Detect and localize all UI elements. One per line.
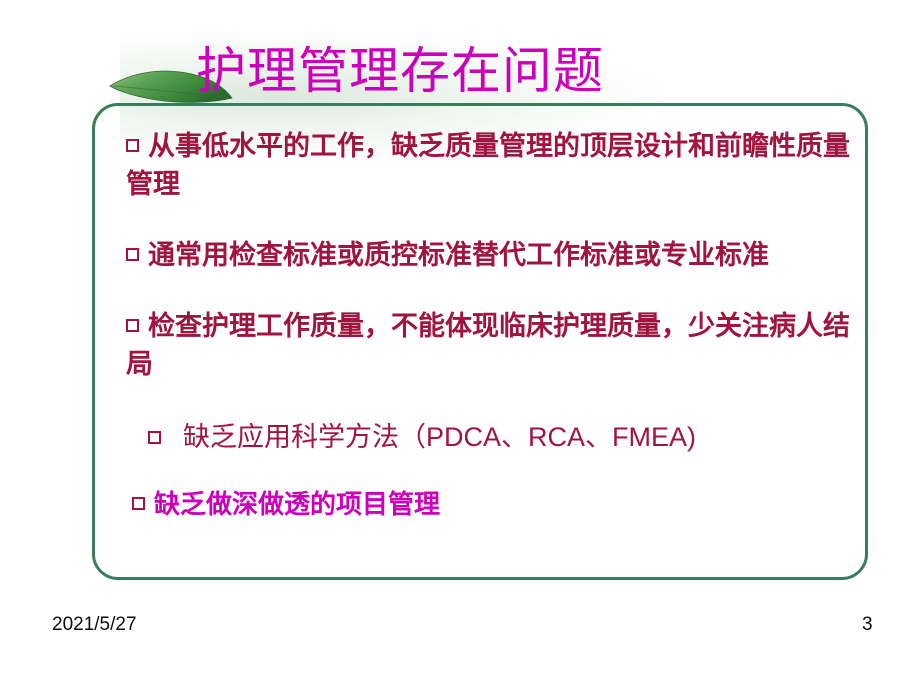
list-item: 从事低水平的工作，缺乏质量管理的顶层设计和前瞻性质量管理 [126, 128, 850, 204]
bullet-list: 从事低水平的工作，缺乏质量管理的顶层设计和前瞻性质量管理 通常用检查标准或质控标… [126, 128, 850, 524]
square-bullet-icon [126, 248, 139, 261]
footer-date: 2021/5/27 [52, 614, 137, 636]
list-item: 通常用检查标准或质控标准替代工作标准或专业标准 [126, 237, 850, 275]
list-item: 缺乏应用科学方法（PDCA、RCA、FMEA) [148, 418, 850, 456]
presentation-slide: 护理管理存在问题 从事低水平的工作，缺乏质量管理的顶层设计和前瞻性质量管理 通常… [0, 0, 900, 675]
square-bullet-icon [132, 497, 145, 510]
footer-page-number: 3 [862, 614, 873, 636]
list-item: 检查护理工作质量，不能体现临床护理质量，少关注病人结局 [126, 308, 850, 384]
square-bullet-icon [126, 139, 139, 152]
page-title: 护理管理存在问题 [196, 42, 876, 100]
list-item-label: 缺乏做深做透的项目管理 [154, 490, 440, 520]
list-item-label: 通常用检查标准或质控标准替代工作标准或专业标准 [148, 240, 769, 271]
square-bullet-icon [126, 319, 139, 332]
list-item-label: 从事低水平的工作，缺乏质量管理的顶层设计和前瞻性质量管理 [126, 131, 850, 200]
square-bullet-icon [148, 431, 161, 444]
list-item: 缺乏做深做透的项目管理 [132, 486, 850, 524]
page-title-text: 护理管理存在问题 [196, 42, 604, 100]
list-item-label: 检查护理工作质量，不能体现临床护理质量，少关注病人结局 [126, 311, 850, 380]
list-item-label: 缺乏应用科学方法（PDCA、RCA、FMEA) [183, 422, 696, 452]
